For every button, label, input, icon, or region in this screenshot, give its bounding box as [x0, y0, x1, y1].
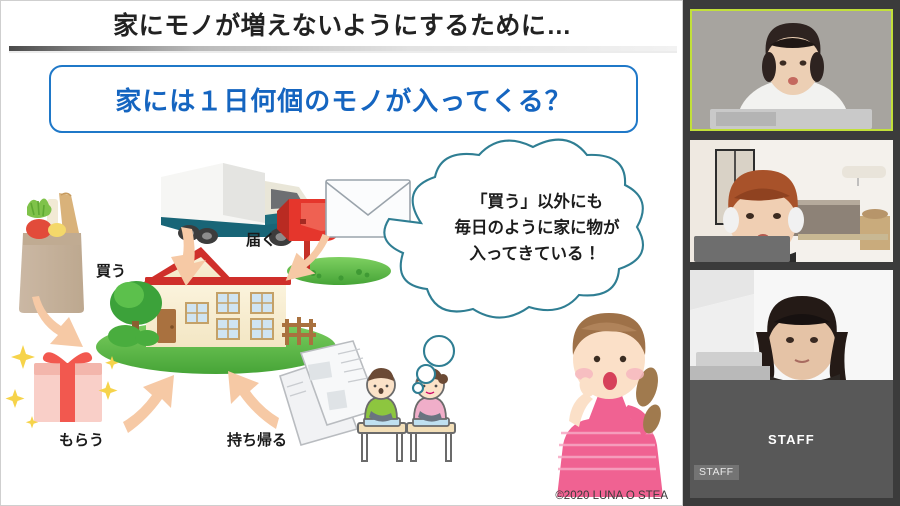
video-tile-participant-4-staff[interactable]: STAFF STAFF: [690, 380, 893, 498]
video-participants-panel: STAFF STAFF: [683, 0, 900, 506]
gift-box-icon: [6, 345, 119, 428]
label-receive: もらう: [59, 432, 104, 449]
video-tile-participant-3[interactable]: [690, 270, 893, 380]
video-tile-participant-1[interactable]: [690, 9, 893, 131]
bubble-line-3: 入ってきている ！: [469, 244, 604, 263]
participant-2-video: [690, 140, 893, 262]
participant-1-video: [692, 11, 891, 129]
shared-slide: 家にモノが増えないようにするために… 家には１日何個のモノが入ってくる？: [0, 0, 683, 506]
label-deliver: 届く: [246, 232, 276, 249]
slide-illustration-canvas: 買う: [1, 133, 683, 506]
meeting-screen-share-view: 家にモノが増えないようにするために… 家には１日何個のモノが入ってくる？: [0, 0, 900, 506]
participant-3-video: [690, 270, 893, 380]
bubble-line-1: 「買う」以外にも: [471, 191, 603, 211]
label-bring-home: 持ち帰る: [227, 431, 287, 449]
title-divider-shadow: [9, 51, 677, 53]
question-box-text: 家には１日何個のモノが入ってくる？: [115, 81, 571, 118]
staff-center-label: STAFF: [690, 380, 893, 498]
slide-title: 家にモノが増えないようにするために…: [1, 5, 683, 43]
diagram-svg: 買う: [1, 133, 683, 506]
grocery-bag-icon: [19, 193, 84, 313]
thinking-woman-icon: [557, 313, 664, 497]
school-children-icon: [358, 368, 455, 461]
bubble-line-2: 毎日のように家に物が: [455, 217, 621, 237]
question-box: 家には１日何個のモノが入ってくる？: [49, 65, 638, 133]
video-tile-participant-2[interactable]: [690, 140, 893, 262]
copyright-text: ©2020 LUNA O STEA: [555, 490, 668, 502]
staff-name-badge: STAFF: [694, 465, 739, 480]
fence-icon: [282, 317, 316, 345]
label-buy: 買う: [96, 263, 126, 280]
tree-icon: [108, 281, 162, 347]
